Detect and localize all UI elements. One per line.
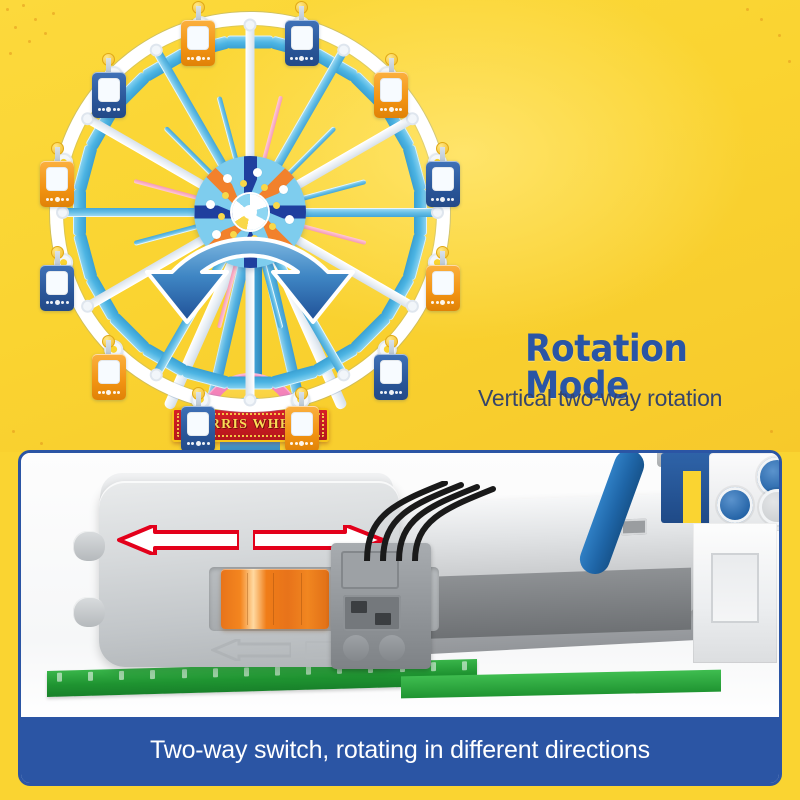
- embossed-left-arrow-icon: [211, 639, 291, 661]
- gondola-window: [98, 78, 120, 102]
- gondola-blue: [285, 20, 319, 66]
- power-wires: [349, 481, 579, 561]
- background-speck: [28, 40, 31, 43]
- gondola-arm: [106, 58, 111, 73]
- gondola-arm: [55, 147, 60, 162]
- motor-photo: [21, 453, 779, 721]
- panel-caption-text: Two-way switch, rotating in different di…: [150, 736, 650, 765]
- background-speck: [6, 8, 9, 11]
- switch-left-arrow: [117, 525, 239, 555]
- background-speck: [778, 34, 781, 37]
- gondola-orange: [285, 406, 319, 452]
- gondola-arm: [389, 58, 394, 73]
- hub-dot: [285, 215, 294, 224]
- gondola-blue: [92, 72, 126, 118]
- gondola-body: [374, 72, 408, 118]
- gondola-body: [426, 265, 460, 311]
- gondola-body: [374, 354, 408, 400]
- spoke-cap: [244, 393, 257, 406]
- gondola-window: [291, 26, 313, 50]
- gondola-window: [380, 360, 402, 384]
- motor-vent-slot: [621, 519, 647, 536]
- pin-hole: [759, 489, 779, 525]
- gondola-decal: [379, 107, 403, 113]
- gondola-arm: [389, 340, 394, 355]
- background-speck: [22, 4, 25, 7]
- spoke-cap: [57, 206, 70, 219]
- gondola-decal: [186, 441, 210, 447]
- gondola-body: [40, 265, 74, 311]
- background-speck: [760, 18, 763, 21]
- gondola-blue: [426, 161, 460, 207]
- gondola-window: [291, 412, 313, 436]
- gondola-decal: [186, 55, 210, 61]
- spoke-cap: [431, 206, 444, 219]
- gondola-body: [285, 20, 319, 66]
- gondola-decal: [431, 300, 455, 306]
- gondola-orange: [40, 161, 74, 207]
- gondola-orange: [426, 265, 460, 311]
- gondola-window: [46, 167, 68, 191]
- gondola-body: [181, 20, 215, 66]
- battery-box-connector-nub: [73, 597, 105, 627]
- gondola-arm: [196, 392, 201, 407]
- gondola-window: [46, 271, 68, 295]
- hub-dot: [279, 185, 288, 194]
- gondola-decal: [290, 441, 314, 447]
- orange-power-switch[interactable]: [221, 569, 329, 629]
- gondola-orange: [374, 72, 408, 118]
- hub-dot: [238, 247, 247, 256]
- gondola-body: [40, 161, 74, 207]
- hero-section: FERRIS WHEEL: [0, 0, 800, 452]
- white-brick-with-pinholes: [709, 453, 779, 531]
- gondola-arm: [55, 251, 60, 266]
- wheel-assembly: [50, 12, 450, 412]
- gondola-blue: [374, 354, 408, 400]
- connector-stud: [379, 635, 405, 661]
- gondola-body: [285, 406, 319, 452]
- battery-box: [99, 481, 399, 667]
- background-speck: [52, 12, 55, 15]
- gondola-arm: [440, 147, 445, 162]
- gondola-decal: [379, 389, 403, 395]
- gondola-body: [92, 72, 126, 118]
- gondola-decal: [97, 107, 121, 113]
- gondola-window: [187, 26, 209, 50]
- gondola-decal: [431, 196, 455, 202]
- gondola-decal: [97, 389, 121, 395]
- gondola-blue: [40, 265, 74, 311]
- gondola-decal: [290, 55, 314, 61]
- gondola-arm: [196, 6, 201, 21]
- hub-dot: [269, 223, 276, 230]
- background-speck: [14, 26, 17, 29]
- connector-port: [343, 595, 401, 631]
- wire-connector-block: [331, 543, 431, 669]
- gondola-window: [380, 78, 402, 102]
- gondola-body: [426, 161, 460, 207]
- hub-spiral-center: [232, 194, 268, 230]
- gondola-blue: [181, 406, 215, 452]
- gondola-window: [432, 271, 454, 295]
- hub-dot: [240, 180, 247, 187]
- ferris-wheel-illustration: FERRIS WHEEL: [20, 4, 480, 452]
- gondola-arm: [440, 251, 445, 266]
- hub-dot: [268, 241, 277, 250]
- gondola-window: [432, 167, 454, 191]
- background-speck: [40, 442, 43, 445]
- gondola-arm: [106, 340, 111, 355]
- product-feature-image: FERRIS WHEEL: [0, 0, 800, 800]
- background-speck: [788, 60, 791, 63]
- background-speck: [770, 430, 773, 433]
- background-speck: [9, 52, 12, 55]
- connector-stud: [343, 635, 369, 661]
- gondola-window: [98, 360, 120, 384]
- pin-hole: [717, 487, 753, 523]
- background-speck: [12, 430, 15, 433]
- background-speck: [746, 8, 749, 11]
- page-subtitle: Vertical two-way rotation: [478, 385, 798, 412]
- feature-panel: Two-way switch, rotating in different di…: [18, 450, 782, 786]
- gondola-arm: [299, 392, 304, 407]
- gondola-orange: [181, 20, 215, 66]
- hub-dot: [251, 235, 258, 242]
- hub-dot: [273, 202, 280, 209]
- gondola-body: [181, 406, 215, 452]
- gondola-orange: [92, 354, 126, 400]
- background-speck: [44, 32, 47, 35]
- gondola-body: [92, 354, 126, 400]
- gondola-decal: [45, 300, 69, 306]
- spoke-cap: [244, 19, 257, 32]
- panel-caption: Two-way switch, rotating in different di…: [21, 717, 779, 783]
- battery-box-connector-nub: [73, 531, 105, 561]
- gondola-decal: [45, 196, 69, 202]
- white-support-beam: [693, 523, 777, 663]
- hub-dot: [230, 231, 237, 238]
- background-speck: [34, 18, 37, 21]
- gondola-arm: [299, 6, 304, 21]
- gondola-window: [187, 412, 209, 436]
